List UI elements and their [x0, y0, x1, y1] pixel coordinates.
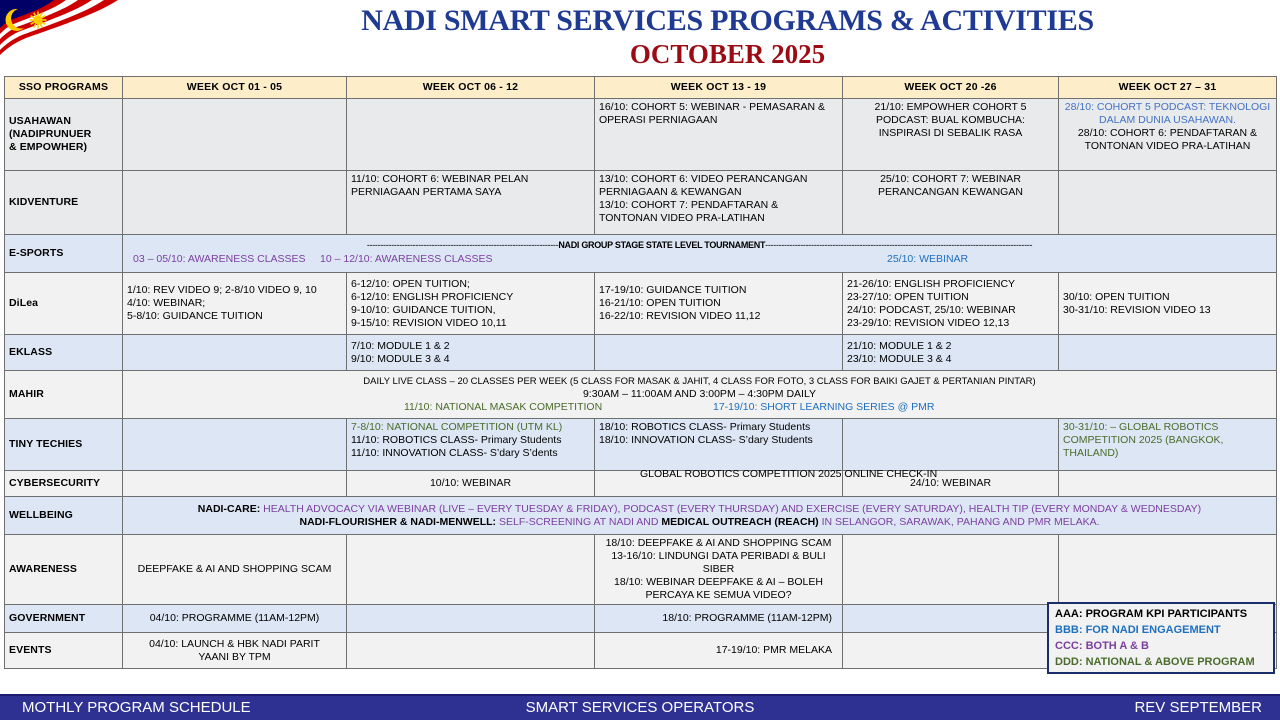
- table-header-row: SSO PROGRAMS WEEK OCT 01 - 05 WEEK OCT 0…: [5, 77, 1277, 99]
- cell-line: DALAM DUNIA USAHAWAN.: [1063, 114, 1272, 127]
- legend-item-aaa: AAA: PROGRAM KPI PARTICIPANTS: [1055, 606, 1269, 622]
- cell-line: 28/10: COHORT 6: PENDAFTARAN &: [1063, 127, 1272, 140]
- cell-government-w4: [843, 605, 1059, 633]
- row-label-dilea: DiLea: [5, 273, 123, 335]
- cell-events-w3: 17-19/10: PMR MELAKA: [595, 633, 843, 669]
- table-row-mahir: MAHIR DAILY LIVE CLASS – 20 CLASSES PER …: [5, 371, 1277, 419]
- wellbeing-text-2b: IN SELANGOR, SARAWAK, PAHANG AND PMR MEL…: [822, 516, 1100, 528]
- schedule-page: NADI SMART SERVICES PROGRAMS & ACTIVITIE…: [0, 0, 1280, 720]
- cell-line: OPERASI PERNIAGAAN: [599, 114, 838, 127]
- cell-dilea-w4: 21-26/10: ENGLISH PROFICIENCY 23-27/10: …: [843, 273, 1059, 335]
- cell-line: 9-15/10: REVISION VIDEO 10,11: [351, 317, 590, 330]
- row-label-eklass: EKLASS: [5, 335, 123, 371]
- dash-right: ----------------------------------------…: [765, 240, 1032, 250]
- cell-line: 04/10: LAUNCH & HBK NADI PARIT: [127, 638, 342, 651]
- cell-line: 23/10: MODULE 3 & 4: [847, 353, 1054, 366]
- cell-cyber-w2: 10/10: WEBINAR: [347, 471, 595, 497]
- cell-eklass-w4: 21/10: MODULE 1 & 2 23/10: MODULE 3 & 4: [843, 335, 1059, 371]
- cell-line: PERNIAGAAN PERTAMA SAYA: [351, 186, 590, 199]
- table-row-awareness: AWARENESS DEEPFAKE & AI AND SHOPPING SCA…: [5, 535, 1277, 605]
- cell-line: TONTONAN VIDEO PRA-LATIHAN: [599, 212, 838, 225]
- cell-line: 21/10: MODULE 1 & 2: [847, 340, 1054, 353]
- cell-government-w3: 18/10: PROGRAMME (11AM-12PM): [595, 605, 843, 633]
- row-label-kidventure: KIDVENTURE: [5, 171, 123, 235]
- cell-usahawan-w1: [123, 99, 347, 171]
- cell-line: 9-10/10: GUIDANCE TUITION,: [351, 304, 590, 317]
- title-block: NADI SMART SERVICES PROGRAMS & ACTIVITIE…: [175, 0, 1280, 76]
- column-header-programs: SSO PROGRAMS: [5, 77, 123, 99]
- cell-line: INSPIRASI DI SEBALIK RASA: [847, 127, 1054, 140]
- cell-line: 4/10: WEBINAR;: [127, 297, 342, 310]
- cell-dilea-w1: 1/10: REV VIDEO 9; 2-8/10 VIDEO 9, 10 4/…: [123, 273, 347, 335]
- cell-line: PODCAST: BUAL KOMBUCHA:: [847, 114, 1054, 127]
- esports-items: 03 – 05/10: AWARENESS CLASSES 10 – 12/10…: [127, 253, 1272, 267]
- cell-line: 13-16/10: LINDUNGI DATA PERIBADI & BULI: [599, 550, 838, 563]
- legend-key: DDD:: [1055, 656, 1083, 668]
- cell-line: 30-31/10: – GLOBAL ROBOTICS: [1063, 421, 1272, 434]
- cell-line: 18/10: INNOVATION CLASS- S’dary Students: [599, 434, 838, 447]
- cell-line: 23-27/10: OPEN TUITION: [847, 291, 1054, 304]
- cell-government-w2: [347, 605, 595, 633]
- mahir-green-item: 11/10: NATIONAL MASAK COMPETITION: [404, 401, 602, 414]
- cell-line: 7/10: MODULE 1 & 2: [351, 340, 590, 353]
- wellbeing-label-flourisher: NADI-FLOURISHER & NADI-MENWELL:: [299, 516, 498, 528]
- cell-kidventure-w2: 11/10: COHORT 6: WEBINAR PELAN PERNIAGAA…: [347, 171, 595, 235]
- mahir-line2: 9:30AM – 11:00AM AND 3:00PM – 4:30PM DAI…: [127, 388, 1272, 401]
- row-label-events: EVENTS: [5, 633, 123, 669]
- cell-events-w1: 04/10: LAUNCH & HBK NADI PARIT YAANI BY …: [123, 633, 347, 669]
- cell-awareness-w5: [1059, 535, 1277, 605]
- wellbeing-line2: NADI-FLOURISHER & NADI-MENWELL: SELF-SCR…: [127, 516, 1272, 529]
- mahir-line1: DAILY LIVE CLASS – 20 CLASSES PER WEEK (…: [127, 375, 1272, 388]
- row-label-usahawan: USAHAWAN (NADIPRUNUER & EMPOWHER): [5, 99, 123, 171]
- cell-esports-span: ----------------------------------------…: [123, 235, 1277, 273]
- cell-line: 1/10: REV VIDEO 9; 2-8/10 VIDEO 9, 10: [127, 284, 342, 297]
- table-row-eklass: EKLASS 7/10: MODULE 1 & 2 9/10: MODULE 3…: [5, 335, 1277, 371]
- row-label-mahir: MAHIR: [5, 371, 123, 419]
- cell-line: 16-21/10: OPEN TUITION: [599, 297, 838, 310]
- cell-dilea-w5: 30/10: OPEN TUITION 30-31/10: REVISION V…: [1059, 273, 1277, 335]
- cell-line: 17-19/10: GUIDANCE TUITION: [599, 284, 838, 297]
- legend-key: BBB:: [1055, 624, 1083, 636]
- esports-item-w2: 10 – 12/10: AWARENESS CLASSES: [320, 253, 493, 266]
- cell-dilea-w2: 6-12/10: OPEN TUITION; 6-12/10: ENGLISH …: [347, 273, 595, 335]
- table-row-kidventure: KIDVENTURE 11/10: COHORT 6: WEBINAR PELA…: [5, 171, 1277, 235]
- legend-item-ccc: CCC: BOTH A & B: [1055, 638, 1269, 654]
- cell-line: 13/10: COHORT 7: PENDAFTARAN &: [599, 199, 838, 212]
- row-label-awareness: AWARENESS: [5, 535, 123, 605]
- cell-line: SIBER: [599, 563, 838, 576]
- wellbeing-text-2a: SELF-SCREENING AT NADI AND: [499, 516, 661, 528]
- cell-line: 28/10: COHORT 5 PODCAST: TEKNOLOGI: [1063, 101, 1272, 114]
- column-header-week3: WEEK OCT 13 - 19: [595, 77, 843, 99]
- cell-line: 13/10: COHORT 6: VIDEO PERANCANGAN: [599, 173, 838, 186]
- legend-item-bbb: BBB: FOR NADI ENGAGEMENT: [1055, 622, 1269, 638]
- page-title: NADI SMART SERVICES PROGRAMS & ACTIVITIE…: [175, 3, 1280, 39]
- mahir-items: 11/10: NATIONAL MASAK COMPETITION 17-19/…: [127, 401, 1272, 415]
- cell-line: YAANI BY TPM: [127, 651, 342, 664]
- wellbeing-label-reach: MEDICAL OUTREACH (REACH): [661, 516, 821, 528]
- legend-text: NATIONAL & ABOVE PROGRAM: [1086, 656, 1255, 668]
- row-label-cybersecurity: CYBERSECURITY: [5, 471, 123, 497]
- cell-line: PERANCANGAN KEWANGAN: [847, 186, 1054, 199]
- legend-text: PROGRAM KPI PARTICIPANTS: [1086, 608, 1248, 620]
- wellbeing-text-1: HEALTH ADVOCACY VIA WEBINAR (LIVE – EVER…: [263, 503, 1201, 515]
- cell-usahawan-w3: 16/10: COHORT 5: WEBINAR - PEMASARAN & O…: [595, 99, 843, 171]
- footer-right-text: REV SEPTEMBER: [1134, 699, 1262, 716]
- cell-government-w1: 04/10: PROGRAMME (11AM-12PM): [123, 605, 347, 633]
- cell-wellbeing-span: NADI-CARE: HEALTH ADVOCACY VIA WEBINAR (…: [123, 497, 1277, 535]
- row-label-esports: E-SPORTS: [5, 235, 123, 273]
- cell-line: 11/10: INNOVATION CLASS- S’dary S’dents: [351, 447, 590, 460]
- table-row-usahawan: USAHAWAN (NADIPRUNUER & EMPOWHER) 16/10:…: [5, 99, 1277, 171]
- cell-tiny-w1: [123, 419, 347, 471]
- page-footer: MOTHLY PROGRAM SCHEDULE SMART SERVICES O…: [0, 694, 1280, 720]
- cell-eklass-w3: [595, 335, 843, 371]
- wellbeing-label-nadicare: NADI-CARE:: [198, 503, 263, 515]
- global-robotics-checkin-note: GLOBAL ROBOTICS COMPETITION 2025 ONLINE …: [640, 468, 937, 480]
- cell-kidventure-w3: 13/10: COHORT 6: VIDEO PERANCANGAN PERNI…: [595, 171, 843, 235]
- cell-line: 18/10: ROBOTICS CLASS- Primary Students: [599, 421, 838, 434]
- cell-line: 21-26/10: ENGLISH PROFICIENCY: [847, 278, 1054, 291]
- cell-cyber-w5: [1059, 471, 1277, 497]
- cell-line: 11/10: ROBOTICS CLASS- Primary Students: [351, 434, 590, 447]
- page-header: NADI SMART SERVICES PROGRAMS & ACTIVITIE…: [0, 0, 1280, 76]
- malaysia-flag-icon: [0, 0, 175, 76]
- column-header-week1: WEEK OCT 01 - 05: [123, 77, 347, 99]
- cell-usahawan-w4: 21/10: EMPOWHER COHORT 5 PODCAST: BUAL K…: [843, 99, 1059, 171]
- wellbeing-line1: NADI-CARE: HEALTH ADVOCACY VIA WEBINAR (…: [127, 503, 1272, 516]
- row-label-wellbeing: WELLBEING: [5, 497, 123, 535]
- column-header-week4: WEEK OCT 20 -26: [843, 77, 1059, 99]
- row-label-tiny-techies: TINY TECHIES: [5, 419, 123, 471]
- table-row-dilea: DiLea 1/10: REV VIDEO 9; 2-8/10 VIDEO 9,…: [5, 273, 1277, 335]
- cell-line: COMPETITION 2025 (BANGKOK,: [1063, 434, 1272, 447]
- cell-line: THAILAND): [1063, 447, 1272, 460]
- column-header-week2: WEEK OCT 06 - 12: [347, 77, 595, 99]
- cell-line: 11/10: COHORT 6: WEBINAR PELAN: [351, 173, 590, 186]
- legend-text: BOTH A & B: [1086, 640, 1149, 652]
- cell-line: PERNIAGAAN & KEWANGAN: [599, 186, 838, 199]
- column-header-week5: WEEK OCT 27 – 31: [1059, 77, 1277, 99]
- legend-key: AAA:: [1055, 608, 1083, 620]
- cell-awareness-w4: [843, 535, 1059, 605]
- cell-line: 18/10: DEEPFAKE & AI AND SHOPPING SCAM: [599, 537, 838, 550]
- cell-line: 23-29/10: REVISION VIDEO 12,13: [847, 317, 1054, 330]
- esports-item-w4: 25/10: WEBINAR: [887, 253, 968, 266]
- cell-line: 16-22/10: REVISION VIDEO 11,12: [599, 310, 838, 323]
- legend-text: FOR NADI ENGAGEMENT: [1086, 624, 1221, 636]
- esports-item-w1: 03 – 05/10: AWARENESS CLASSES: [133, 253, 306, 266]
- footer-center-text: SMART SERVICES OPERATORS: [0, 699, 1280, 716]
- program-schedule-table: SSO PROGRAMS WEEK OCT 01 - 05 WEEK OCT 0…: [4, 76, 1277, 669]
- legend-key: CCC:: [1055, 640, 1083, 652]
- cell-line: 18/10: WEBINAR DEEPFAKE & AI – BOLEH: [599, 576, 838, 589]
- row-label-line: USAHAWAN: [9, 115, 118, 128]
- cell-usahawan-w2: [347, 99, 595, 171]
- esports-banner: ----------------------------------------…: [127, 240, 1272, 251]
- row-label-line: (NADIPRUNUER: [9, 128, 118, 141]
- cell-line: 30/10: OPEN TUITION: [1063, 291, 1272, 304]
- cell-kidventure-w1: [123, 171, 347, 235]
- row-label-line: & EMPOWHER): [9, 141, 118, 154]
- cell-mahir-span: DAILY LIVE CLASS – 20 CLASSES PER WEEK (…: [123, 371, 1277, 419]
- cell-awareness-w3: 18/10: DEEPFAKE & AI AND SHOPPING SCAM 1…: [595, 535, 843, 605]
- cell-eklass-w5: [1059, 335, 1277, 371]
- cell-line: 24/10: PODCAST, 25/10: WEBINAR: [847, 304, 1054, 317]
- cell-tiny-w2: 7-8/10: NATIONAL COMPETITION (UTM KL) 11…: [347, 419, 595, 471]
- cell-line: 5-8/10: GUIDANCE TUITION: [127, 310, 342, 323]
- cell-eklass-w2: 7/10: MODULE 1 & 2 9/10: MODULE 3 & 4: [347, 335, 595, 371]
- cell-line: 25/10: COHORT 7: WEBINAR: [847, 173, 1054, 186]
- row-label-government: GOVERNMENT: [5, 605, 123, 633]
- cell-events-w4: [843, 633, 1059, 669]
- page-subtitle: OCTOBER 2025: [175, 39, 1280, 70]
- cell-line: 21/10: EMPOWHER COHORT 5: [847, 101, 1054, 114]
- cell-line: 30-31/10: REVISION VIDEO 13: [1063, 304, 1272, 317]
- cell-tiny-w4: [843, 419, 1059, 471]
- cell-dilea-w3: 17-19/10: GUIDANCE TUITION 16-21/10: OPE…: [595, 273, 843, 335]
- table-row-tiny-techies: TINY TECHIES 7-8/10: NATIONAL COMPETITIO…: [5, 419, 1277, 471]
- legend-item-ddd: DDD: NATIONAL & ABOVE PROGRAM: [1055, 654, 1269, 670]
- mahir-blue-item: 17-19/10: SHORT LEARNING SERIES @ PMR: [713, 401, 935, 414]
- cell-tiny-w5: 30-31/10: – GLOBAL ROBOTICS COMPETITION …: [1059, 419, 1277, 471]
- cell-line: 9/10: MODULE 3 & 4: [351, 353, 590, 366]
- cell-awareness-w2: [347, 535, 595, 605]
- cell-line: 6-12/10: ENGLISH PROFICIENCY: [351, 291, 590, 304]
- cell-line: 7-8/10: NATIONAL COMPETITION (UTM KL): [351, 421, 590, 434]
- esports-banner-text: NADI GROUP STAGE STATE LEVEL TOURNAMENT: [558, 240, 765, 250]
- table-row-esports: E-SPORTS -------------------------------…: [5, 235, 1277, 273]
- cell-line: TONTONAN VIDEO PRA-LATIHAN: [1063, 140, 1272, 153]
- legend-box: AAA: PROGRAM KPI PARTICIPANTS BBB: FOR N…: [1047, 602, 1275, 674]
- dash-left: ----------------------------------------…: [367, 240, 559, 250]
- cell-awareness-w1: DEEPFAKE & AI AND SHOPPING SCAM: [123, 535, 347, 605]
- cell-line: PERCAYA KE SEMUA VIDEO?: [599, 589, 838, 602]
- table-row-wellbeing: WELLBEING NADI-CARE: HEALTH ADVOCACY VIA…: [5, 497, 1277, 535]
- cell-line: 6-12/10: OPEN TUITION;: [351, 278, 590, 291]
- cell-eklass-w1: [123, 335, 347, 371]
- cell-usahawan-w5: 28/10: COHORT 5 PODCAST: TEKNOLOGI DALAM…: [1059, 99, 1277, 171]
- cell-events-w2: [347, 633, 595, 669]
- cell-tiny-w3: 18/10: ROBOTICS CLASS- Primary Students …: [595, 419, 843, 471]
- cell-cyber-w1: [123, 471, 347, 497]
- cell-line: 16/10: COHORT 5: WEBINAR - PEMASARAN &: [599, 101, 838, 114]
- cell-kidventure-w5: [1059, 171, 1277, 235]
- cell-kidventure-w4: 25/10: COHORT 7: WEBINAR PERANCANGAN KEW…: [843, 171, 1059, 235]
